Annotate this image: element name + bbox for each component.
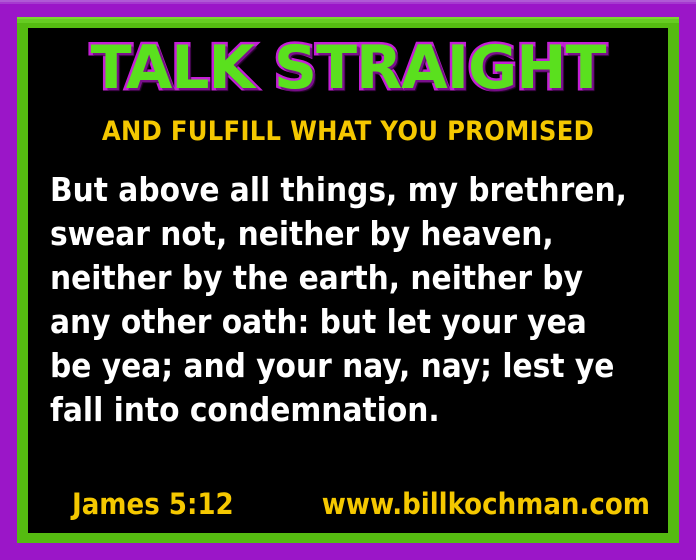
website-url[interactable]: www.billkochman.com xyxy=(322,487,656,521)
scripture-line: But above all things, my brethren, xyxy=(50,168,650,212)
scripture-line: any other oath: but let your yea xyxy=(50,300,650,344)
scripture-line: swear not, neither by heaven, xyxy=(50,212,650,256)
scripture-line: fall into condemnation. xyxy=(50,388,650,432)
poster-content-panel: TALK STRAIGHT AND FULFILL WHAT YOU PROMI… xyxy=(28,28,668,533)
poster-headline: TALK STRAIGHT xyxy=(28,34,668,102)
poster-footer: James 5:12 www.billkochman.com xyxy=(50,487,656,521)
poster-subheadline: AND FULFILL WHAT YOU PROMISED xyxy=(28,116,668,148)
scripture-body: But above all things, my brethren, swear… xyxy=(50,168,650,432)
scripture-poster: TALK STRAIGHT AND FULFILL WHAT YOU PROMI… xyxy=(0,0,696,560)
scripture-reference: James 5:12 xyxy=(50,487,234,521)
scripture-line: neither by the earth, neither by xyxy=(50,256,650,300)
scripture-line: be yea; and your nay, nay; lest ye xyxy=(50,344,650,388)
